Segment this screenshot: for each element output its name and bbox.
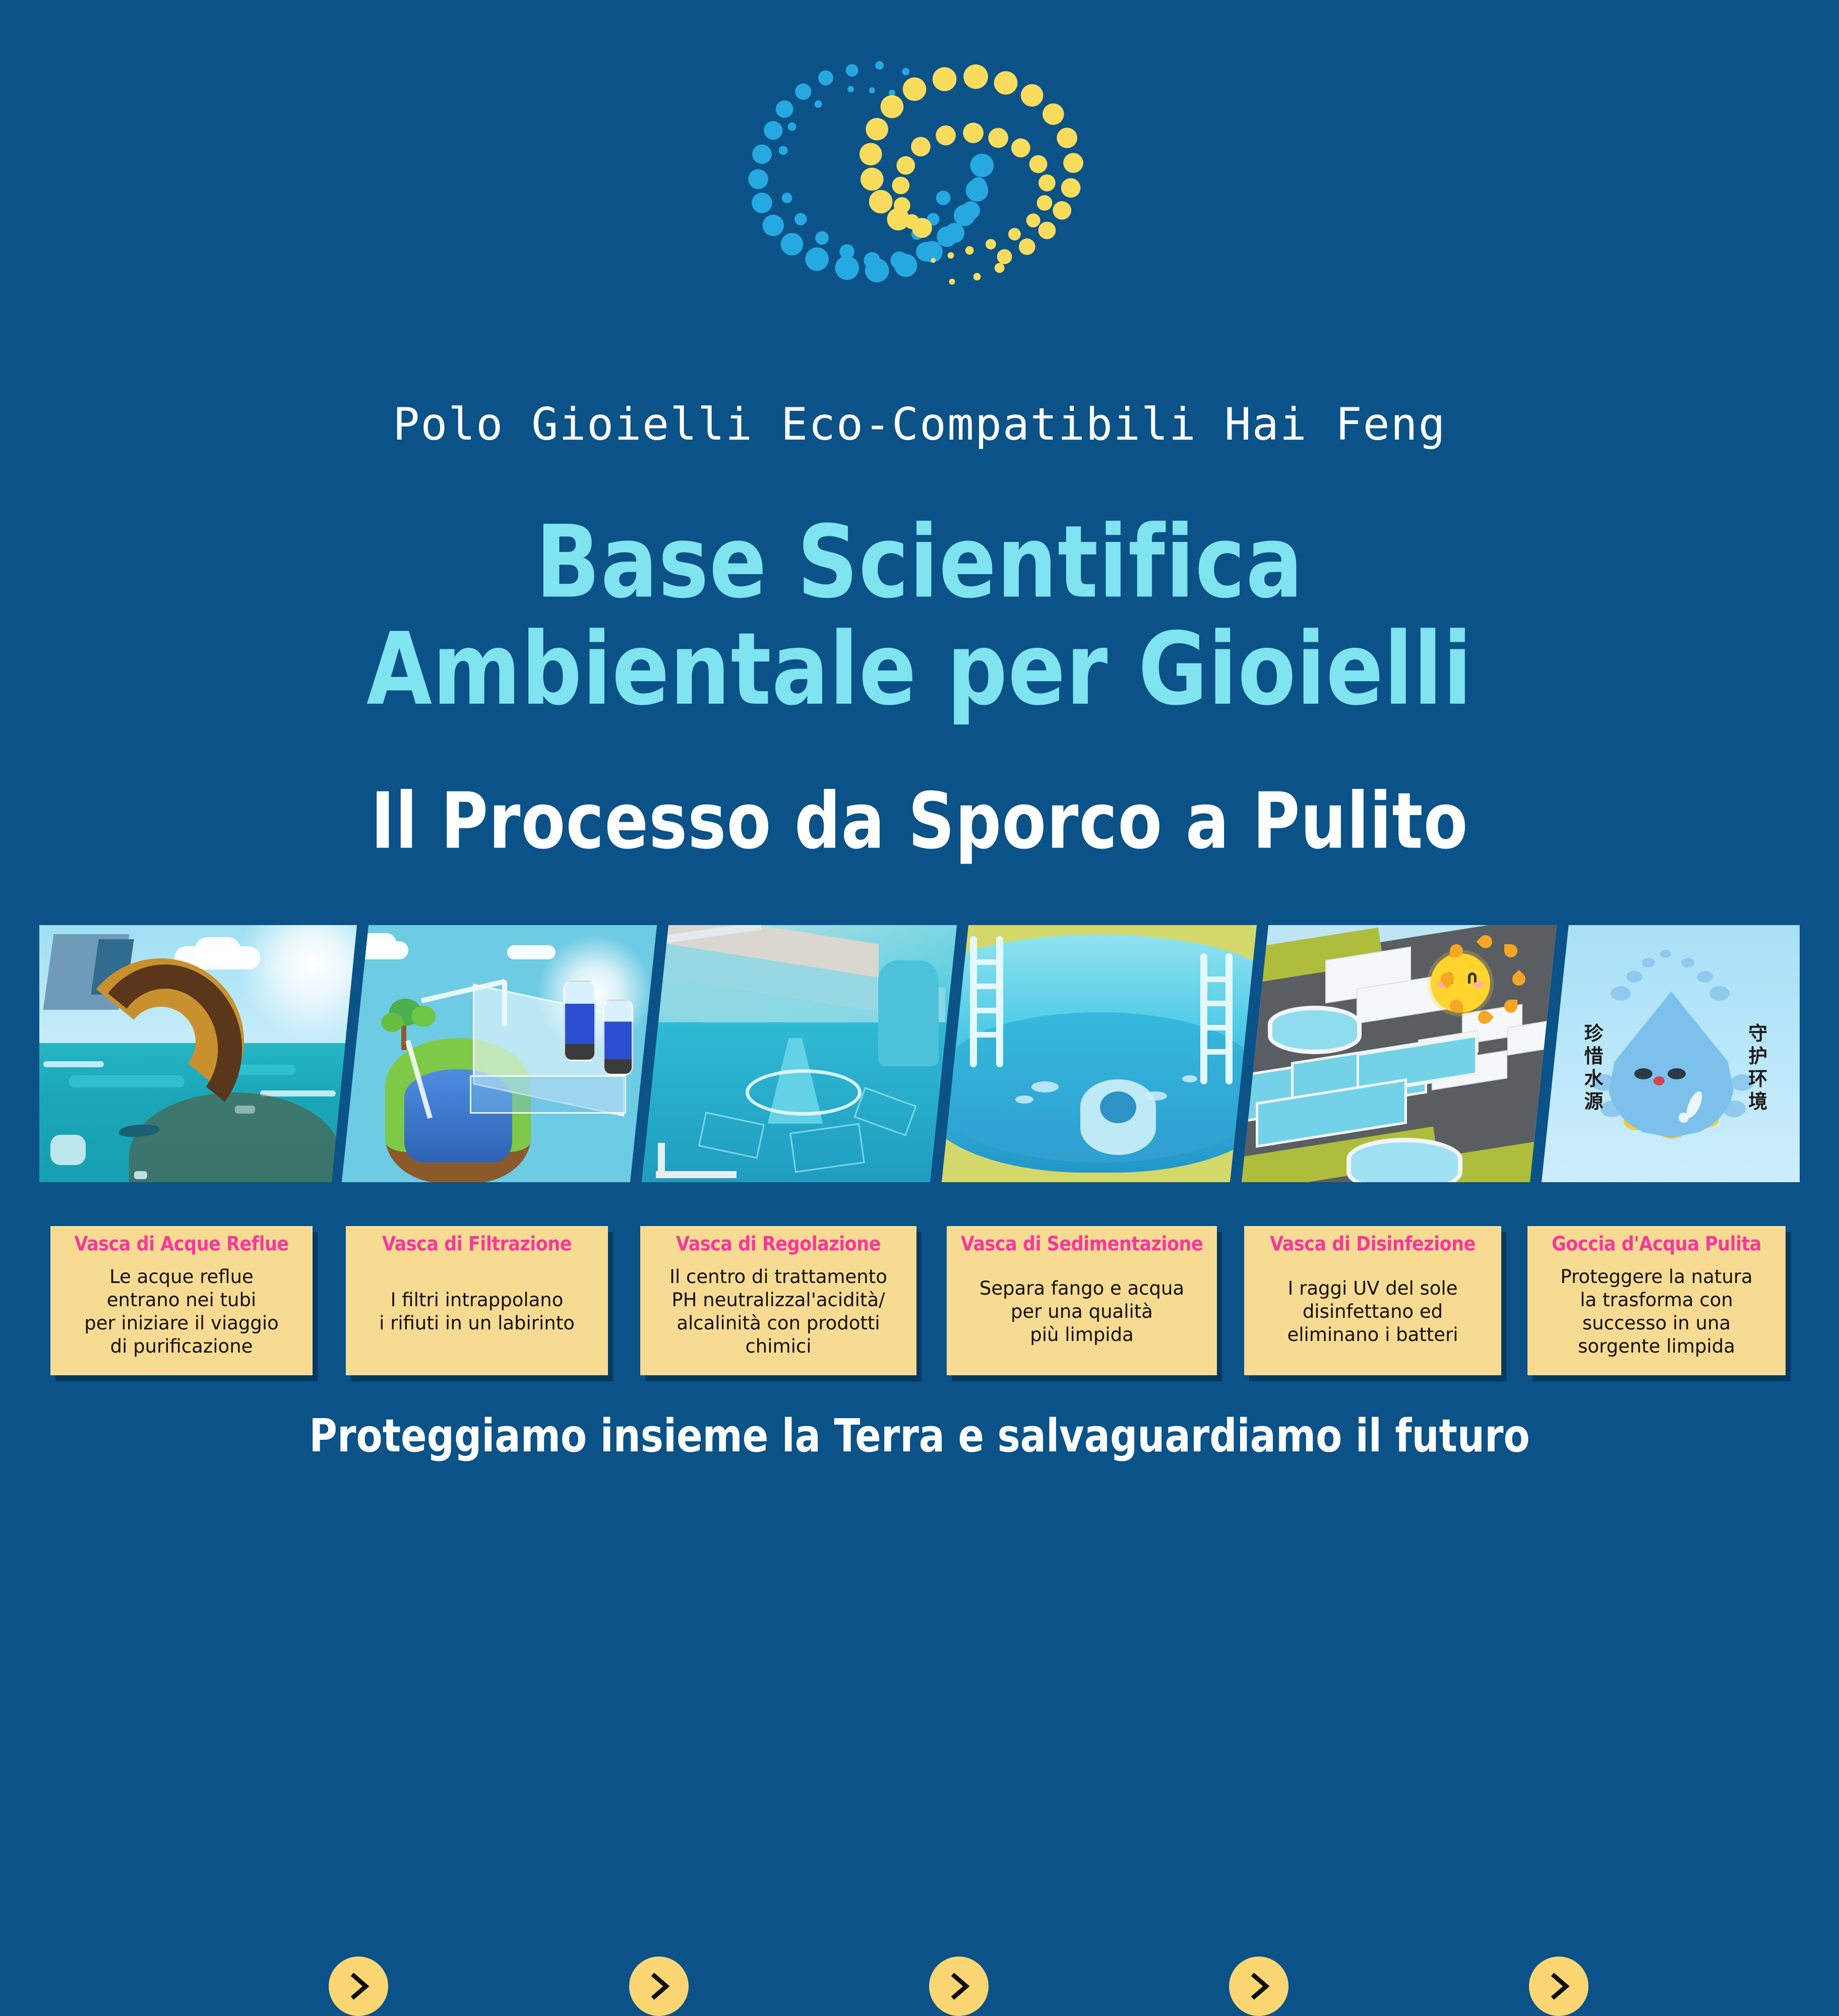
process-image-6: 珍惜水源 守护环境 (1542, 925, 1800, 1182)
chevron-right-icon (345, 1971, 372, 2002)
process-image-3 (642, 925, 957, 1182)
card-title: Vasca di Disinfezione (1270, 1233, 1476, 1256)
card-body: Le acque reflueentrano nei tubiper inizi… (84, 1265, 279, 1358)
process-card-5[interactable]: Vasca di Disinfezione I raggi UV del sol… (1244, 1226, 1501, 1375)
page-title-line1: Base Scientifica (535, 504, 1303, 620)
card-title: Goccia d'Acqua Pulita (1552, 1233, 1761, 1256)
card-body: I filtri intrappolanoi rifiuti in un lab… (379, 1289, 575, 1335)
card-body: Il centro di trattamentoPH neutralizzal'… (669, 1265, 887, 1358)
process-card-1[interactable]: Vasca di Acque Reflue Le acque reflueent… (50, 1226, 313, 1375)
card-body: I raggi UV del soledisinfettano edelimin… (1287, 1277, 1458, 1347)
card-title: Vasca di Regolazione (676, 1233, 881, 1256)
chevron-right-icon-2[interactable] (629, 1957, 689, 2016)
chevron-right-icon-4[interactable] (1229, 1957, 1289, 2016)
chevron-right-icon (945, 1971, 972, 2002)
process-image-5 (1242, 925, 1557, 1182)
dual-spiral-dots-logo (723, 48, 1116, 360)
card-body: Separa fango e acquaper una qualitàpiù l… (979, 1277, 1184, 1347)
page-title: Base Scientifica Ambientale per Gioielli (0, 509, 1839, 723)
process-image-4 (942, 925, 1257, 1182)
process-image-strip: 珍惜水源 守护环境 (39, 925, 1800, 1182)
card-body: Proteggere la naturala trasforma consucc… (1560, 1265, 1752, 1358)
chevron-right-icon-3[interactable] (929, 1957, 989, 2016)
chevron-right-icon-1[interactable] (329, 1957, 388, 2016)
card-title: Vasca di Sedimentazione (961, 1233, 1203, 1256)
footer-slogan: Proteggiamo insieme la Terra e salvaguar… (0, 1409, 1839, 1462)
process-card-6[interactable]: Goccia d'Acqua Pulita Proteggere la natu… (1527, 1226, 1786, 1375)
process-image-2 (342, 925, 657, 1182)
brand-name: Polo Gioielli Eco-Compatibili Hai Feng (0, 398, 1839, 450)
process-card-2[interactable]: Vasca di Filtrazione I filtri intrappola… (346, 1226, 608, 1375)
process-caption-cards: Vasca di Acque Reflue Le acque reflueent… (39, 1226, 1800, 1382)
card-title: Vasca di Acque Reflue (74, 1233, 288, 1256)
panel6-left-text: 珍惜水源 (1582, 1022, 1606, 1113)
card-title: Vasca di Filtrazione (382, 1233, 572, 1256)
chevron-right-icon (1245, 1971, 1272, 2002)
page-title-line2: Ambientale per Gioielli (0, 616, 1839, 723)
page-subtitle: Il Processo da Sporco a Pulito (0, 776, 1839, 867)
process-card-3[interactable]: Vasca di Regolazione Il centro di tratta… (640, 1226, 916, 1375)
panel6-right-text: 守护环境 (1746, 1022, 1769, 1113)
chevron-right-icon (645, 1971, 672, 2002)
logo (0, 48, 1839, 360)
process-card-4[interactable]: Vasca di Sedimentazione Separa fango e a… (947, 1226, 1217, 1375)
process-image-1 (39, 925, 357, 1182)
chevron-right-icon (1545, 1971, 1572, 2002)
chevron-right-icon-5[interactable] (1529, 1957, 1588, 2016)
